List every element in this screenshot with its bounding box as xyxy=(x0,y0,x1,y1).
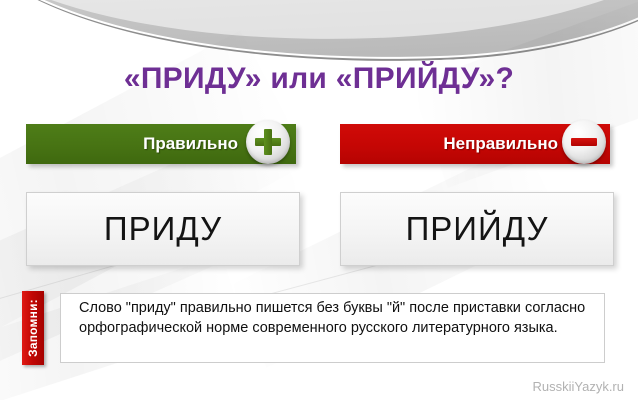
minus-bar-horizontal xyxy=(571,138,597,146)
word-text-wrong: ПРИЙДУ xyxy=(406,210,549,248)
word-text-correct: ПРИДУ xyxy=(104,210,222,248)
word-card-wrong: ПРИЙДУ xyxy=(340,192,614,266)
remember-note: Слово "приду" правильно пишется без букв… xyxy=(60,293,605,363)
plus-glyph xyxy=(253,127,283,157)
verdict-label-wrong: Неправильно xyxy=(443,124,558,164)
remember-note-text: Слово "приду" правильно пишется без букв… xyxy=(79,298,596,338)
verdict-badge-wrong: Неправильно xyxy=(340,124,610,164)
remember-note-tab: Запомни: xyxy=(22,291,44,365)
remember-note-tab-label: Запомни: xyxy=(26,299,40,357)
plus-bar-vertical xyxy=(264,129,272,155)
page-title: «ПРИДУ» или «ПРИЙДУ»? xyxy=(0,62,638,96)
minus-circle-icon xyxy=(562,120,606,164)
slide-canvas: «ПРИДУ» или «ПРИЙДУ»? Правильно Неправил… xyxy=(0,0,638,400)
site-watermark: RusskiiYazyk.ru xyxy=(532,379,624,394)
plus-circle-icon xyxy=(246,120,290,164)
verdict-label-correct: Правильно xyxy=(143,124,238,164)
verdict-badge-correct: Правильно xyxy=(26,124,296,164)
minus-glyph xyxy=(569,127,599,157)
top-white-swoosh xyxy=(0,0,638,61)
word-card-correct: ПРИДУ xyxy=(26,192,300,266)
